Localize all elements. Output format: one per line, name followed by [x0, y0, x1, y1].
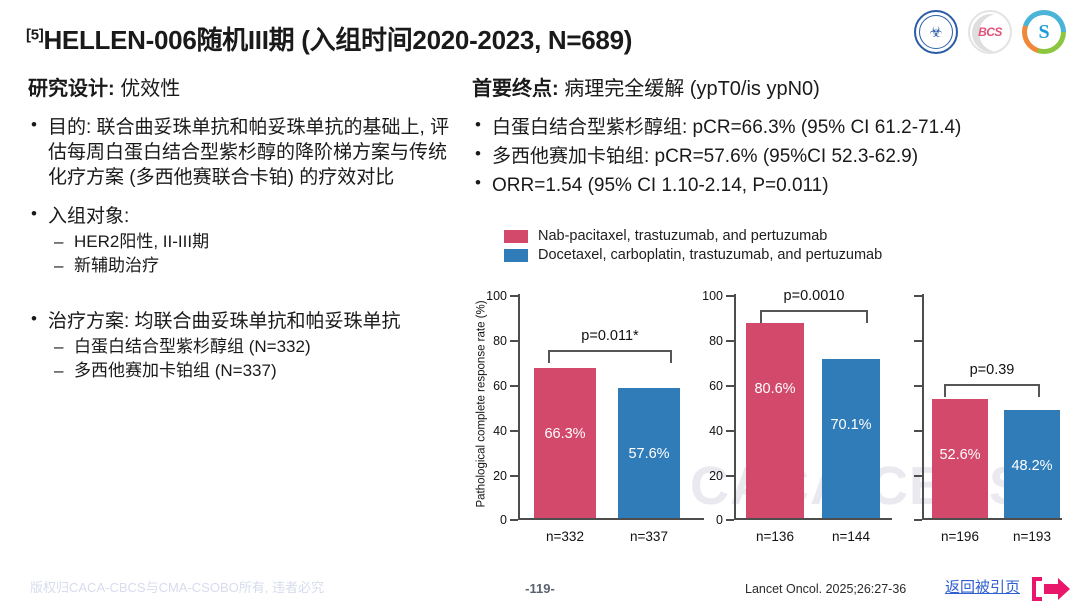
logo-group: ☣ BCS S — [914, 10, 1066, 54]
return-arrow-icon[interactable] — [1028, 574, 1072, 604]
x-axis-line — [734, 518, 892, 520]
primary-endpoint-value: 病理完全缓解 (ypT0/is ypN0) — [564, 78, 820, 100]
title-superscript: [5] — [26, 26, 43, 43]
sub-list: 白蛋白结合型紫杉醇组 (N=332) 多西他赛加卡铂组 (N=337) — [48, 335, 458, 383]
legend-item: Docetaxel, carboplatin, trastuzumab, and… — [504, 247, 1062, 263]
legend-swatch-pink — [504, 230, 528, 243]
bar-value-label: 70.1% — [822, 417, 880, 433]
panel-group: 100 80 60 40 20 0 p=0.011* — [488, 288, 1062, 546]
list-item: 新辅助治疗 — [48, 254, 458, 278]
x-tick-label: n=144 — [822, 529, 880, 544]
chart-panel-2: 100 80 60 40 20 0 p=0.0010 — [704, 288, 892, 546]
bar-value-label: 52.6% — [932, 447, 988, 463]
chart-legend: Nab-pacitaxel, trastuzumab, and pertuzum… — [504, 228, 1062, 263]
csobo-logo-icon: S — [1022, 10, 1066, 54]
bar-value-label: 48.2% — [1004, 458, 1060, 474]
y-tick-label: 40 — [493, 424, 507, 438]
y-tick-label: 0 — [500, 513, 507, 527]
bar-nab-paclitaxel: 66.3% — [534, 368, 596, 518]
caca-logo-icon: ☣ — [914, 10, 958, 54]
list-item: 多西他赛加卡铂组: pCR=57.6% (95%CI 52.3-62.9) — [472, 144, 1062, 169]
y-tick-label: 80 — [709, 334, 723, 348]
x-tick-label: n=332 — [534, 529, 596, 544]
x-axis-line — [922, 518, 1062, 520]
right-bullet-list: 白蛋白结合型紫杉醇组: pCR=66.3% (95% CI 61.2-71.4)… — [472, 115, 1062, 198]
bullet-text: 目的: 联合曲妥珠单抗和帕妥珠单抗的基础上, 评估每周白蛋白结合型紫杉醇的降阶梯… — [48, 117, 449, 188]
bar-group: 80.6% 70.1% — [736, 292, 892, 518]
x-axis-labels: n=136 n=144 — [736, 529, 892, 544]
bcs-logo-text: BCS — [978, 25, 1002, 39]
x-axis-line — [518, 518, 704, 520]
bar-nab-paclitaxel: 80.6% — [746, 323, 804, 518]
x-tick-label: n=193 — [1004, 529, 1060, 544]
x-axis-labels: n=332 n=337 — [520, 529, 704, 544]
left-bullet-list: 目的: 联合曲妥珠单抗和帕妥珠单抗的基础上, 评估每周白蛋白结合型紫杉醇的降阶梯… — [28, 115, 458, 383]
list-item: 白蛋白结合型紫杉醇组 (N=332) — [48, 335, 458, 359]
bullet-text: 治疗方案: 均联合曲妥珠单抗和帕妥珠单抗 — [48, 311, 401, 332]
study-design-heading: 研究设计: 优效性 — [28, 72, 458, 101]
y-axis-ticks: 100 80 60 40 20 0 — [704, 288, 734, 546]
y-tick-label: 40 — [709, 424, 723, 438]
left-column: 研究设计: 优效性 目的: 联合曲妥珠单抗和帕妥珠单抗的基础上, 评估每周白蛋白… — [28, 72, 458, 387]
x-tick-label: n=196 — [932, 529, 988, 544]
legend-label: Docetaxel, carboplatin, trastuzumab, and… — [538, 247, 882, 263]
list-item: 治疗方案: 均联合曲妥珠单抗和帕妥珠单抗 白蛋白结合型紫杉醇组 (N=332) … — [28, 309, 458, 383]
y-tick-label: 20 — [493, 469, 507, 483]
list-item: HER2阳性, II-III期 — [48, 230, 458, 254]
chart-panel-1: 100 80 60 40 20 0 p=0.011* — [488, 288, 704, 546]
citation-text: Lancet Oncol. 2025;26:27-36 — [745, 582, 906, 596]
list-item: 白蛋白结合型紫杉醇组: pCR=66.3% (95% CI 61.2-71.4) — [472, 115, 1062, 140]
legend-item: Nab-pacitaxel, trastuzumab, and pertuzum… — [504, 228, 1062, 244]
bar-value-label: 66.3% — [534, 426, 596, 442]
bar-value-label: 80.6% — [746, 381, 804, 397]
plot-area: Pathological complete response rate (%) … — [476, 288, 1062, 546]
bar-value-label: 57.6% — [618, 446, 680, 462]
x-tick-label: n=337 — [618, 529, 680, 544]
x-tick-label: n=136 — [746, 529, 804, 544]
right-column: 首要终点: 病理完全缓解 (ypT0/is ypN0) 白蛋白结合型紫杉醇组: … — [472, 72, 1062, 202]
slide-root: ☣ BCS S [5]HELLEN-006随机III期 (入组时间2020-20… — [0, 0, 1080, 610]
list-item: 目的: 联合曲妥珠单抗和帕妥珠单抗的基础上, 评估每周白蛋白结合型紫杉醇的降阶梯… — [28, 115, 458, 190]
chart-panel-3: p=0.39 52.6% 48.2% n=196 — [892, 288, 1062, 546]
y-tick-label: 60 — [709, 379, 723, 393]
y-tick-label: 80 — [493, 334, 507, 348]
bar-group: 52.6% 48.2% — [924, 292, 1062, 518]
x-axis-labels: n=196 n=193 — [924, 529, 1062, 544]
pcr-bar-chart: Nab-pacitaxel, trastuzumab, and pertuzum… — [476, 228, 1062, 548]
title-text: HELLEN-006随机III期 (入组时间2020-2023, N=689) — [43, 25, 632, 55]
y-tick-label: 0 — [716, 513, 723, 527]
primary-endpoint-label: 首要终点: — [472, 78, 559, 100]
bar-docetaxel: 48.2% — [1004, 410, 1060, 518]
list-item: ORR=1.54 (95% CI 1.10-2.14, P=0.011) — [472, 173, 1062, 198]
page-number: -119- — [0, 581, 1080, 596]
y-axis-ticks: 100 80 60 40 20 0 — [488, 288, 518, 546]
bar-docetaxel: 57.6% — [618, 388, 680, 518]
y-tick-label: 60 — [493, 379, 507, 393]
bar-nab-paclitaxel: 52.6% — [932, 399, 988, 518]
y-tick-label: 100 — [486, 289, 507, 303]
return-link[interactable]: 返回被引页 — [945, 576, 1020, 597]
bullet-text: 入组对象: — [48, 206, 129, 227]
legend-label: Nab-pacitaxel, trastuzumab, and pertuzum… — [538, 228, 827, 244]
primary-endpoint-heading: 首要终点: 病理完全缓解 (ypT0/is ypN0) — [472, 72, 1062, 101]
study-design-label: 研究设计: — [28, 78, 115, 100]
csobo-logo-text: S — [1038, 21, 1049, 44]
page-title: [5]HELLEN-006随机III期 (入组时间2020-2023, N=68… — [26, 20, 632, 57]
list-item: 入组对象: HER2阳性, II-III期 新辅助治疗 — [28, 204, 458, 278]
sub-list: HER2阳性, II-III期 新辅助治疗 — [48, 230, 458, 278]
bar-docetaxel: 70.1% — [822, 359, 880, 518]
study-design-value: 优效性 — [120, 78, 180, 100]
y-tick-label: 100 — [702, 289, 723, 303]
y-tick-label: 20 — [709, 469, 723, 483]
legend-swatch-blue — [504, 249, 528, 262]
list-item: 多西他赛加卡铂组 (N=337) — [48, 359, 458, 383]
bcs-logo-icon: BCS — [968, 10, 1012, 54]
bar-group: 66.3% 57.6% — [520, 292, 704, 518]
